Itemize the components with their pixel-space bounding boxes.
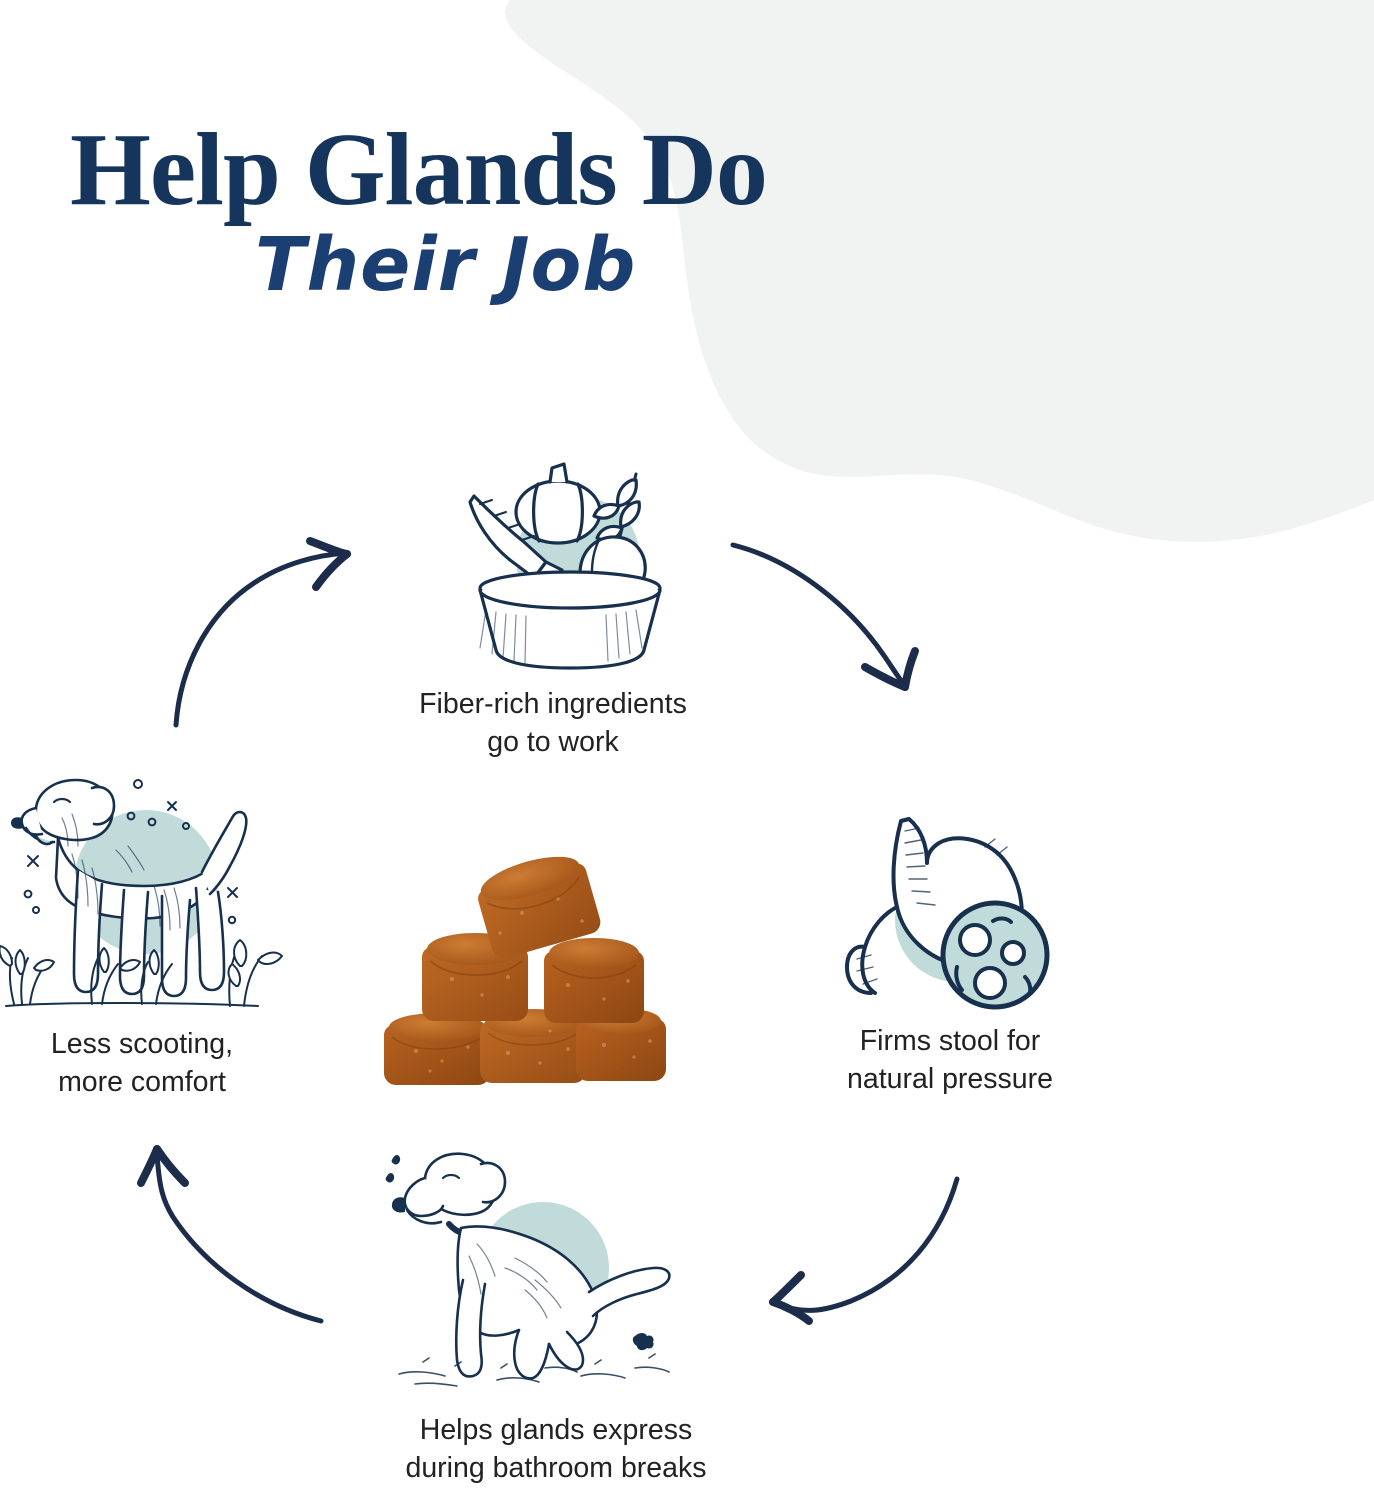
caption-comfort: Less scooting, more comfort bbox=[0, 1026, 302, 1101]
caption-firm-stool: Firms stool for natural pressure bbox=[785, 1023, 1115, 1098]
caption-express: Helps glands express during bathroom bre… bbox=[306, 1412, 806, 1487]
stomach-gut-cells-icon bbox=[835, 795, 1065, 1020]
title-line-serif: Help Glands Do bbox=[70, 118, 767, 222]
stacked-soft-chew-treats-image bbox=[372, 855, 688, 1105]
dog-bowl-with-pumpkin-icon bbox=[450, 450, 700, 680]
curved-arrow-up-left-icon bbox=[115, 1125, 350, 1335]
title-line-script: Their Job bbox=[255, 228, 767, 302]
caption-firm-stool-line1: Firms stool for bbox=[785, 1023, 1115, 1061]
caption-comfort-line2: more comfort bbox=[0, 1064, 302, 1102]
caption-fiber-line2: go to work bbox=[293, 724, 813, 762]
caption-express-line2: during bathroom breaks bbox=[306, 1450, 806, 1488]
caption-fiber: Fiber-rich ingredients go to work bbox=[293, 686, 813, 761]
page-title: Help Glands Do Their Job bbox=[70, 118, 767, 302]
infographic-canvas: Help Glands Do Their Job bbox=[0, 0, 1374, 1500]
dog-squatting-icon bbox=[385, 1140, 695, 1390]
caption-fiber-line1: Fiber-rich ingredients bbox=[293, 686, 813, 724]
caption-comfort-line1: Less scooting, bbox=[0, 1026, 302, 1064]
caption-express-line1: Helps glands express bbox=[306, 1412, 806, 1450]
treat-piece bbox=[384, 1013, 490, 1085]
caption-firm-stool-line2: natural pressure bbox=[785, 1061, 1115, 1099]
happy-dog-standing-icon bbox=[0, 760, 286, 1020]
curved-arrow-down-left-icon bbox=[755, 1175, 990, 1365]
